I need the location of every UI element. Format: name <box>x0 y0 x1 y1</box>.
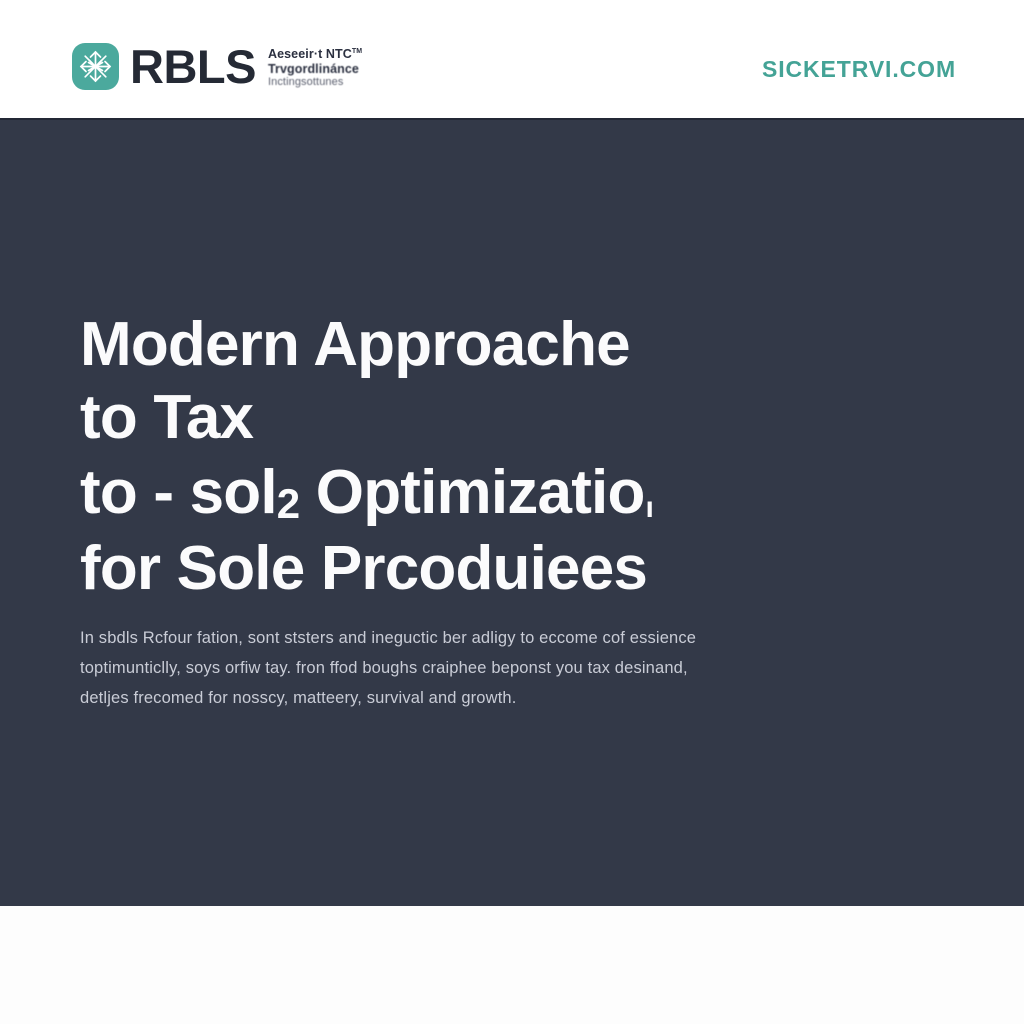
headline-line-2: to Tax <box>80 386 910 449</box>
site-url-link[interactable]: SICKETRVI.COM <box>762 56 956 83</box>
body-line-1: In sbdls Rcfour fation, sont ststers and… <box>80 623 880 653</box>
headline-trailing-mark: ı <box>646 491 654 524</box>
headline-line-3: to - sol2 Optimizatioı <box>80 461 910 524</box>
snowflake-compass-icon <box>72 43 119 90</box>
hero-body-copy: In sbdls Rcfour fation, sont ststers and… <box>80 623 880 713</box>
tagline-line-2: Trvgordlinánce <box>268 62 362 77</box>
brand-tagline: Aeseeir·t NTCTM Trvgordlinánce Inctingso… <box>268 47 362 89</box>
hero-headline: Modern Approache to Tax to - sol2 Optimi… <box>80 313 910 600</box>
poster-canvas: RBLS Aeseeir·t NTCTM Trvgordlinánce Inct… <box>0 0 1024 1024</box>
body-line-3: detljes frecomed for nosscy, matteery, s… <box>80 683 880 713</box>
brand-wordmark: RBLS <box>130 43 256 90</box>
footer-band <box>0 906 1024 1024</box>
brand-lockup[interactable]: RBLS Aeseeir·t NTCTM Trvgordlinánce Inct… <box>72 36 362 96</box>
body-line-2: toptimunticlly, soys orfiw tay. fron ffo… <box>80 653 880 683</box>
tagline-line-1: Aeseeir·t NTCTM <box>268 47 362 62</box>
trademark-symbol: TM <box>352 48 362 55</box>
headline-line-4: for Sole Prcoduiees <box>80 537 910 600</box>
tagline-line-3: Inctingsottunes <box>268 76 362 89</box>
hero-panel: Modern Approache to Tax to - sol2 Optimi… <box>0 118 1024 906</box>
headline-line-1: Modern Approache <box>80 313 910 376</box>
headline-subscript: 2 <box>277 480 300 527</box>
page-header: RBLS Aeseeir·t NTCTM Trvgordlinánce Inct… <box>0 0 1024 118</box>
